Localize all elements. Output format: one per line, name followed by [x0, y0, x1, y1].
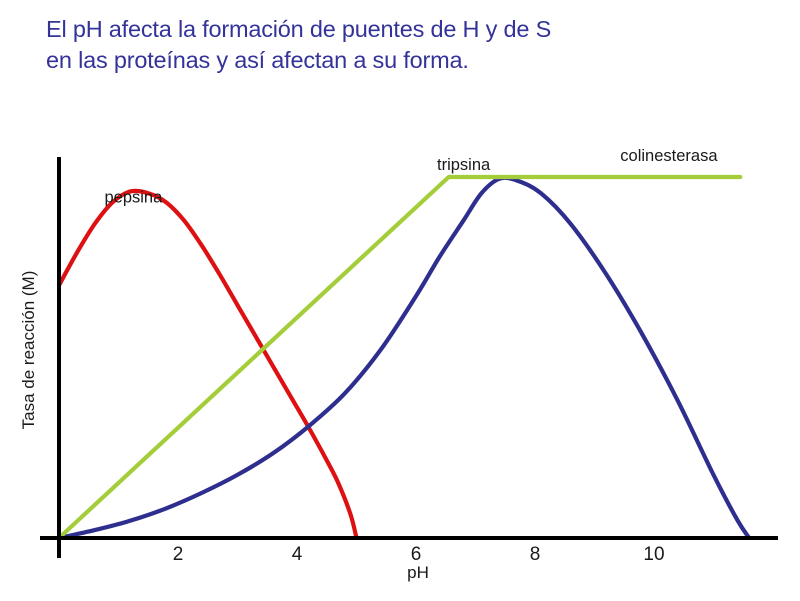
x-tick-label-6: 6 [411, 544, 422, 565]
slide-canvas: El pH afecta la formación de puentes de … [0, 0, 800, 601]
curve-tripsina [59, 178, 749, 538]
curve-pepsina [59, 191, 357, 538]
x-tick-label-4: 4 [292, 544, 303, 565]
series-label-colinesterasa: colinesterasa [620, 147, 718, 165]
x-axis-title: pH [407, 563, 429, 582]
x-tick-labels: 246810 [173, 544, 665, 565]
x-tick-label-10: 10 [643, 544, 664, 565]
x-tick-label-8: 8 [530, 544, 541, 565]
chart-svg: 246810 pepsinatripsinacolinesterasa pH T… [0, 0, 800, 601]
axes-layer [40, 157, 778, 558]
y-axis-title: Tasa de reacción (M) [19, 271, 38, 430]
curves-layer [59, 177, 749, 538]
curve-colinesterasa [59, 177, 740, 538]
enzyme-ph-chart: 246810 pepsinatripsinacolinesterasa pH T… [0, 0, 800, 601]
series-label-pepsina: pepsina [104, 188, 163, 206]
series-label-tripsina: tripsina [437, 156, 491, 174]
x-tick-label-2: 2 [173, 544, 184, 565]
